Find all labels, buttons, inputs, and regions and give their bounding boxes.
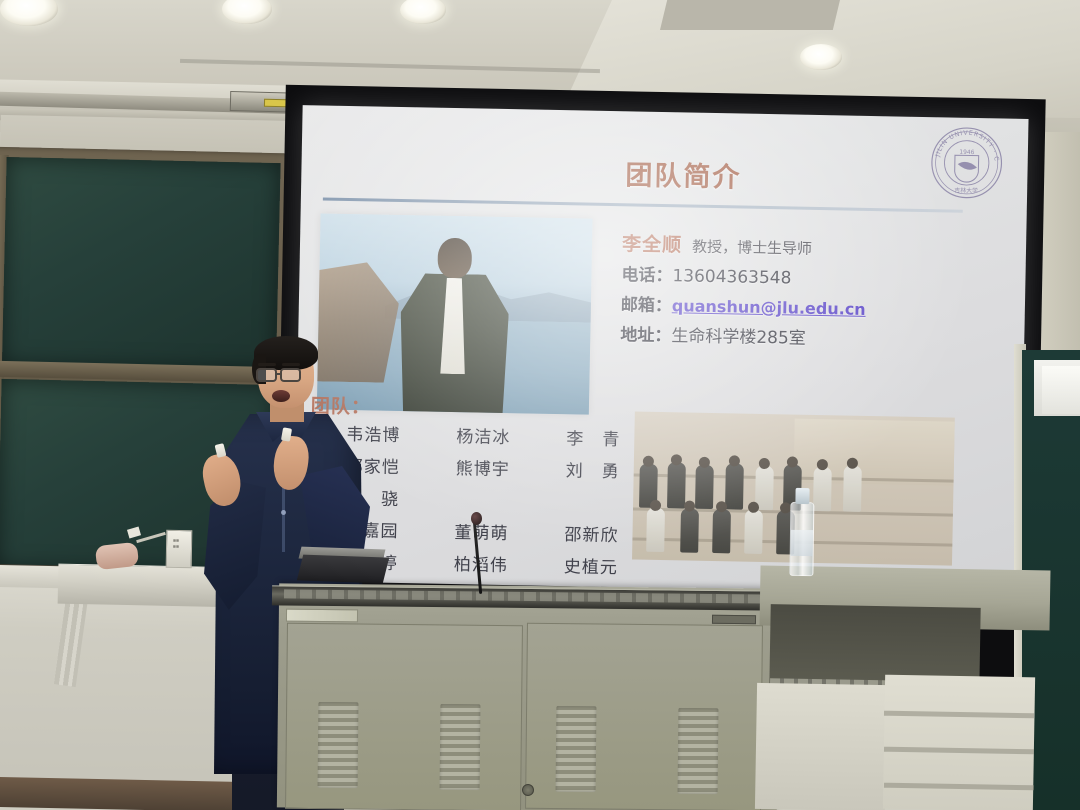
speaker-eyebrow-left <box>258 363 276 366</box>
jilin-university-seal-icon: 1946 JILIN UNIVERSITY · CHINA 吉林大学 <box>929 125 1004 200</box>
speaker-shirt-button <box>281 510 286 515</box>
podium-vent-louver <box>318 702 359 788</box>
speaker-glasses-lens-left <box>256 368 277 382</box>
ceiling-recess <box>660 0 840 30</box>
professor-name: 李全顺 <box>622 233 682 256</box>
group-photo-person <box>813 467 832 511</box>
chalk-box-label: ■■■■ <box>173 538 179 550</box>
podium-vent-louver <box>678 708 719 794</box>
ceiling-downlight <box>800 44 842 70</box>
address-value: 生命科学楼285室 <box>671 326 806 349</box>
lecture-hall-scene: 1946 JILIN UNIVERSITY · CHINA 吉林大学 团队简介 … <box>0 0 1080 810</box>
svg-text:JILIN UNIVERSITY · CHINA: JILIN UNIVERSITY · CHINA <box>929 125 1001 162</box>
podium-model-label <box>712 615 756 624</box>
chalk-piece <box>215 443 227 458</box>
address-row: 地址：生命科学楼285室 <box>620 320 951 356</box>
board-eraser[interactable] <box>95 542 139 570</box>
team-member: 熊博宇 <box>455 456 565 484</box>
microphone-head-icon <box>471 512 482 525</box>
group-photo-person <box>695 465 714 509</box>
address-label: 地址： <box>620 325 671 346</box>
team-member: 柏滔伟 <box>454 552 564 580</box>
team-member <box>455 488 565 516</box>
professor-title: 教授，博士生导师 <box>692 238 812 258</box>
svg-text:吉林大学: 吉林大学 <box>954 186 978 194</box>
team-names-grid: 韦浩博 杨洁冰 李 青 邵家恺 熊博宇 刘 勇 梁 骁 张嘉园 董萌萌 邵新欣 … <box>343 422 677 599</box>
laptop[interactable] <box>297 555 389 584</box>
email-link[interactable]: quanshun@jlu.edu.cn <box>672 296 866 319</box>
projection-screen: 1946 JILIN UNIVERSITY · CHINA 吉林大学 团队简介 … <box>293 105 1028 599</box>
email-label: 邮箱： <box>621 295 672 316</box>
title-divider-rule <box>323 197 963 212</box>
group-photo-person <box>843 466 862 512</box>
team-member: 杨洁冰 <box>456 424 566 452</box>
podium-asset-label <box>286 609 358 623</box>
group-photo-person <box>646 508 665 552</box>
phone-value: 13604363548 <box>672 266 791 288</box>
speaker-glasses-bridge <box>277 373 282 375</box>
right-desk-panel <box>755 683 887 810</box>
phone-label: 电话： <box>621 265 672 286</box>
podium-vent-louver <box>440 704 481 790</box>
water-bottle-cap <box>795 488 809 504</box>
group-photo-person <box>712 509 731 553</box>
podium-lock[interactable] <box>522 784 534 796</box>
group-photo-person <box>667 462 686 508</box>
speaker-glasses-lens-right <box>280 368 301 382</box>
photo-person-head <box>437 238 472 279</box>
group-photo-person <box>725 463 744 509</box>
podium-vent-louver <box>556 706 597 792</box>
door-glass-inner <box>1042 366 1080 414</box>
chalk-box[interactable] <box>166 530 193 568</box>
slide-title: 团队简介 <box>553 152 814 196</box>
group-photo-person <box>744 510 763 554</box>
professor-info-block: 李全顺教授，博士生导师 电话：13604363548 邮箱：quanshun@j… <box>620 229 952 356</box>
water-bottle-label <box>791 530 813 556</box>
group-photo-person <box>680 508 699 552</box>
water-bottle[interactable] <box>789 488 814 576</box>
speaker-mouth <box>272 390 290 402</box>
svg-text:1946: 1946 <box>959 150 974 156</box>
speaker-eyebrow-right <box>282 363 300 366</box>
team-member: 董萌萌 <box>454 520 564 548</box>
